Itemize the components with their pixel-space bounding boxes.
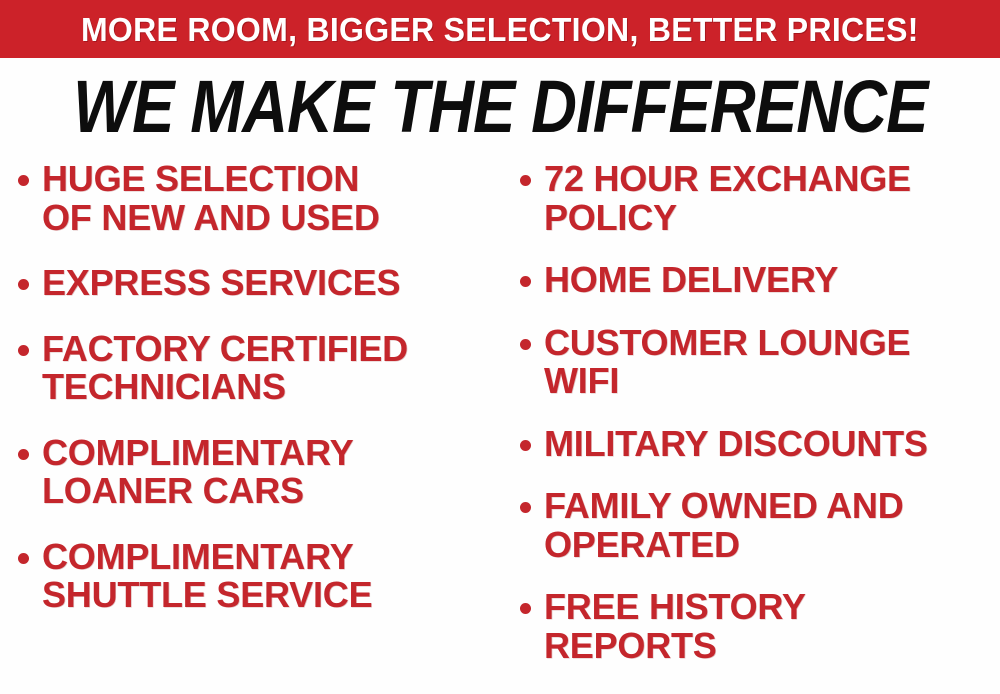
- list-item-label: COMPLIMENTARY SHUTTLE SERVICE: [42, 538, 372, 615]
- benefits-column-right: 72 HOUR EXCHANGE POLICY HOME DELIVERY CU…: [500, 160, 1000, 689]
- list-item: HOME DELIVERY: [520, 261, 998, 300]
- bullet-dot-icon: [18, 553, 29, 564]
- page-title: WE MAKE THE DIFFERENCE: [73, 69, 927, 144]
- list-item: COMPLIMENTARY LOANER CARS: [18, 434, 496, 511]
- bullet-dot-icon: [18, 175, 29, 186]
- bullet-dot-icon: [18, 345, 29, 356]
- list-item: FREE HISTORY REPORTS: [520, 588, 998, 665]
- list-item-label: HUGE SELECTION OF NEW AND USED: [42, 160, 380, 237]
- list-item-label: MILITARY DISCOUNTS: [544, 425, 928, 464]
- list-item: MILITARY DISCOUNTS: [520, 425, 998, 464]
- list-item-label: CUSTOMER LOUNGE WIFI: [544, 324, 910, 401]
- bullet-dot-icon: [520, 440, 531, 451]
- list-item-label: HOME DELIVERY: [544, 261, 838, 300]
- list-item-label: FREE HISTORY REPORTS: [544, 588, 806, 665]
- list-item-label: EXPRESS SERVICES: [42, 264, 400, 303]
- list-item: FACTORY CERTIFIED TECHNICIANS: [18, 330, 496, 407]
- dealership-benefits-poster: MORE ROOM, BIGGER SELECTION, BETTER PRIC…: [0, 0, 1000, 694]
- list-item: EXPRESS SERVICES: [18, 264, 496, 303]
- list-item: COMPLIMENTARY SHUTTLE SERVICE: [18, 538, 496, 615]
- list-item-label: COMPLIMENTARY LOANER CARS: [42, 434, 353, 511]
- bullet-dot-icon: [520, 603, 531, 614]
- bullet-dot-icon: [520, 502, 531, 513]
- bullet-dot-icon: [520, 276, 531, 287]
- benefits-columns: HUGE SELECTION OF NEW AND USED EXPRESS S…: [0, 160, 1000, 694]
- bullet-dot-icon: [520, 175, 531, 186]
- bullet-dot-icon: [18, 279, 29, 290]
- bullet-dot-icon: [520, 339, 531, 350]
- benefits-column-left: HUGE SELECTION OF NEW AND USED EXPRESS S…: [0, 160, 500, 642]
- list-item: 72 HOUR EXCHANGE POLICY: [520, 160, 998, 237]
- list-item: FAMILY OWNED AND OPERATED: [520, 487, 998, 564]
- top-banner: MORE ROOM, BIGGER SELECTION, BETTER PRIC…: [0, 0, 1000, 58]
- banner-headline-text: MORE ROOM, BIGGER SELECTION, BETTER PRIC…: [81, 13, 919, 46]
- list-item: HUGE SELECTION OF NEW AND USED: [18, 160, 496, 237]
- bullet-dot-icon: [18, 449, 29, 460]
- list-item-label: 72 HOUR EXCHANGE POLICY: [544, 160, 911, 237]
- list-item-label: FAMILY OWNED AND OPERATED: [544, 487, 904, 564]
- list-item: CUSTOMER LOUNGE WIFI: [520, 324, 998, 401]
- list-item-label: FACTORY CERTIFIED TECHNICIANS: [42, 330, 408, 407]
- headline-region: WE MAKE THE DIFFERENCE: [0, 58, 1000, 154]
